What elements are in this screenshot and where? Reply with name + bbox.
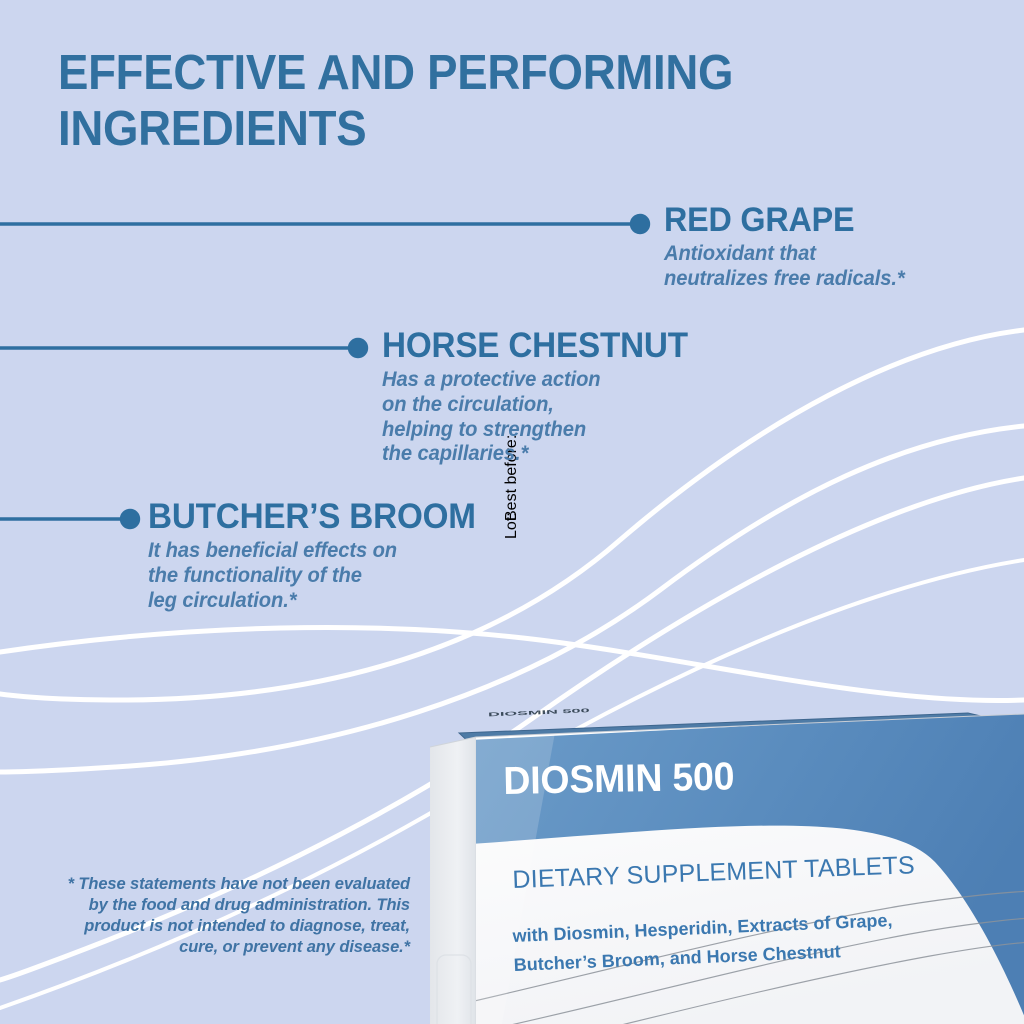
callout-body-horse-chestnut: Has a protective action on the circulati… — [382, 368, 691, 467]
text-content-layer: EFFECTIVE AND PERFORMING INGREDIENTS RED… — [0, 0, 1024, 1024]
infographic-poster: DIOSMIN 500 Best before: Lot: DIOSMIN 50… — [0, 0, 1024, 1024]
callout-body-line: neutralizes free radicals.* — [664, 267, 905, 292]
callout-red-grape: RED GRAPE Antioxidant that neutralizes f… — [664, 203, 915, 292]
callout-body-line: leg circulation.* — [148, 589, 479, 614]
callout-body-line: the capillaries.* — [382, 442, 691, 467]
callout-body-butchers-broom: It has beneficial effects on the functio… — [148, 539, 479, 613]
legal-disclaimer: * These statements have not been evaluat… — [48, 874, 410, 958]
callout-horse-chestnut: HORSE CHESTNUT Has a protective action o… — [382, 328, 704, 467]
callout-body-line: on the circulation, — [382, 393, 691, 418]
callout-body-line: the functionality of the — [148, 564, 479, 589]
callout-title-butchers-broom: BUTCHER’S BROOM — [148, 499, 476, 534]
callout-butchers-broom: BUTCHER’S BROOM It has beneficial effect… — [148, 499, 493, 613]
callout-body-line: Antioxidant that — [664, 242, 905, 267]
callout-body-line: Has a protective action — [382, 368, 691, 393]
callout-title-horse-chestnut: HORSE CHESTNUT — [382, 328, 688, 363]
page-title: EFFECTIVE AND PERFORMING INGREDIENTS — [58, 46, 830, 158]
callout-body-line: It has beneficial effects on — [148, 539, 479, 564]
callout-body-red-grape: Antioxidant that neutralizes free radica… — [664, 242, 905, 292]
callout-title-red-grape: RED GRAPE — [664, 203, 902, 237]
callout-body-line: helping to strengthen — [382, 418, 691, 443]
